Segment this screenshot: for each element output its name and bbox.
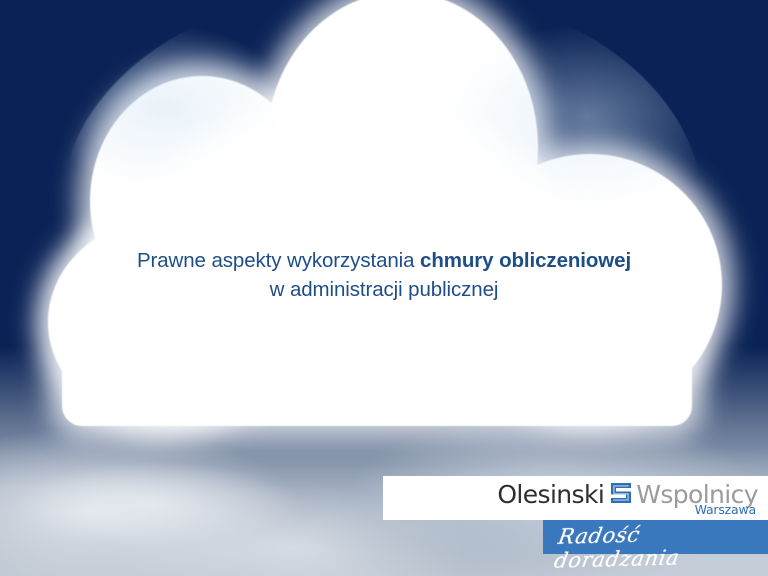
logo-panel: Olesinski Wspolnicy Warszawa	[383, 476, 768, 520]
title-line-1-bold: chmury obliczeniowej	[420, 249, 631, 272]
title-line-1-plain: Prawne aspekty wykorzystania	[137, 249, 420, 272]
logo-name-dark: Olesinski	[497, 480, 604, 509]
title-line-1: Prawne aspekty wykorzystania chmury obli…	[0, 246, 768, 275]
presentation-slide: Prawne aspekty wykorzystania chmury obli…	[0, 0, 768, 576]
tagline-bar: Radość doradzania	[543, 520, 768, 554]
slide-title: Prawne aspekty wykorzystania chmury obli…	[0, 246, 768, 304]
title-line-2: w administracji publicznej	[0, 275, 768, 304]
logo-city: Warszawa	[695, 502, 756, 517]
tagline-text: Radość doradzania	[552, 519, 768, 573]
cloud-graphic	[28, 0, 728, 432]
stylized-s-square-icon	[609, 481, 633, 505]
